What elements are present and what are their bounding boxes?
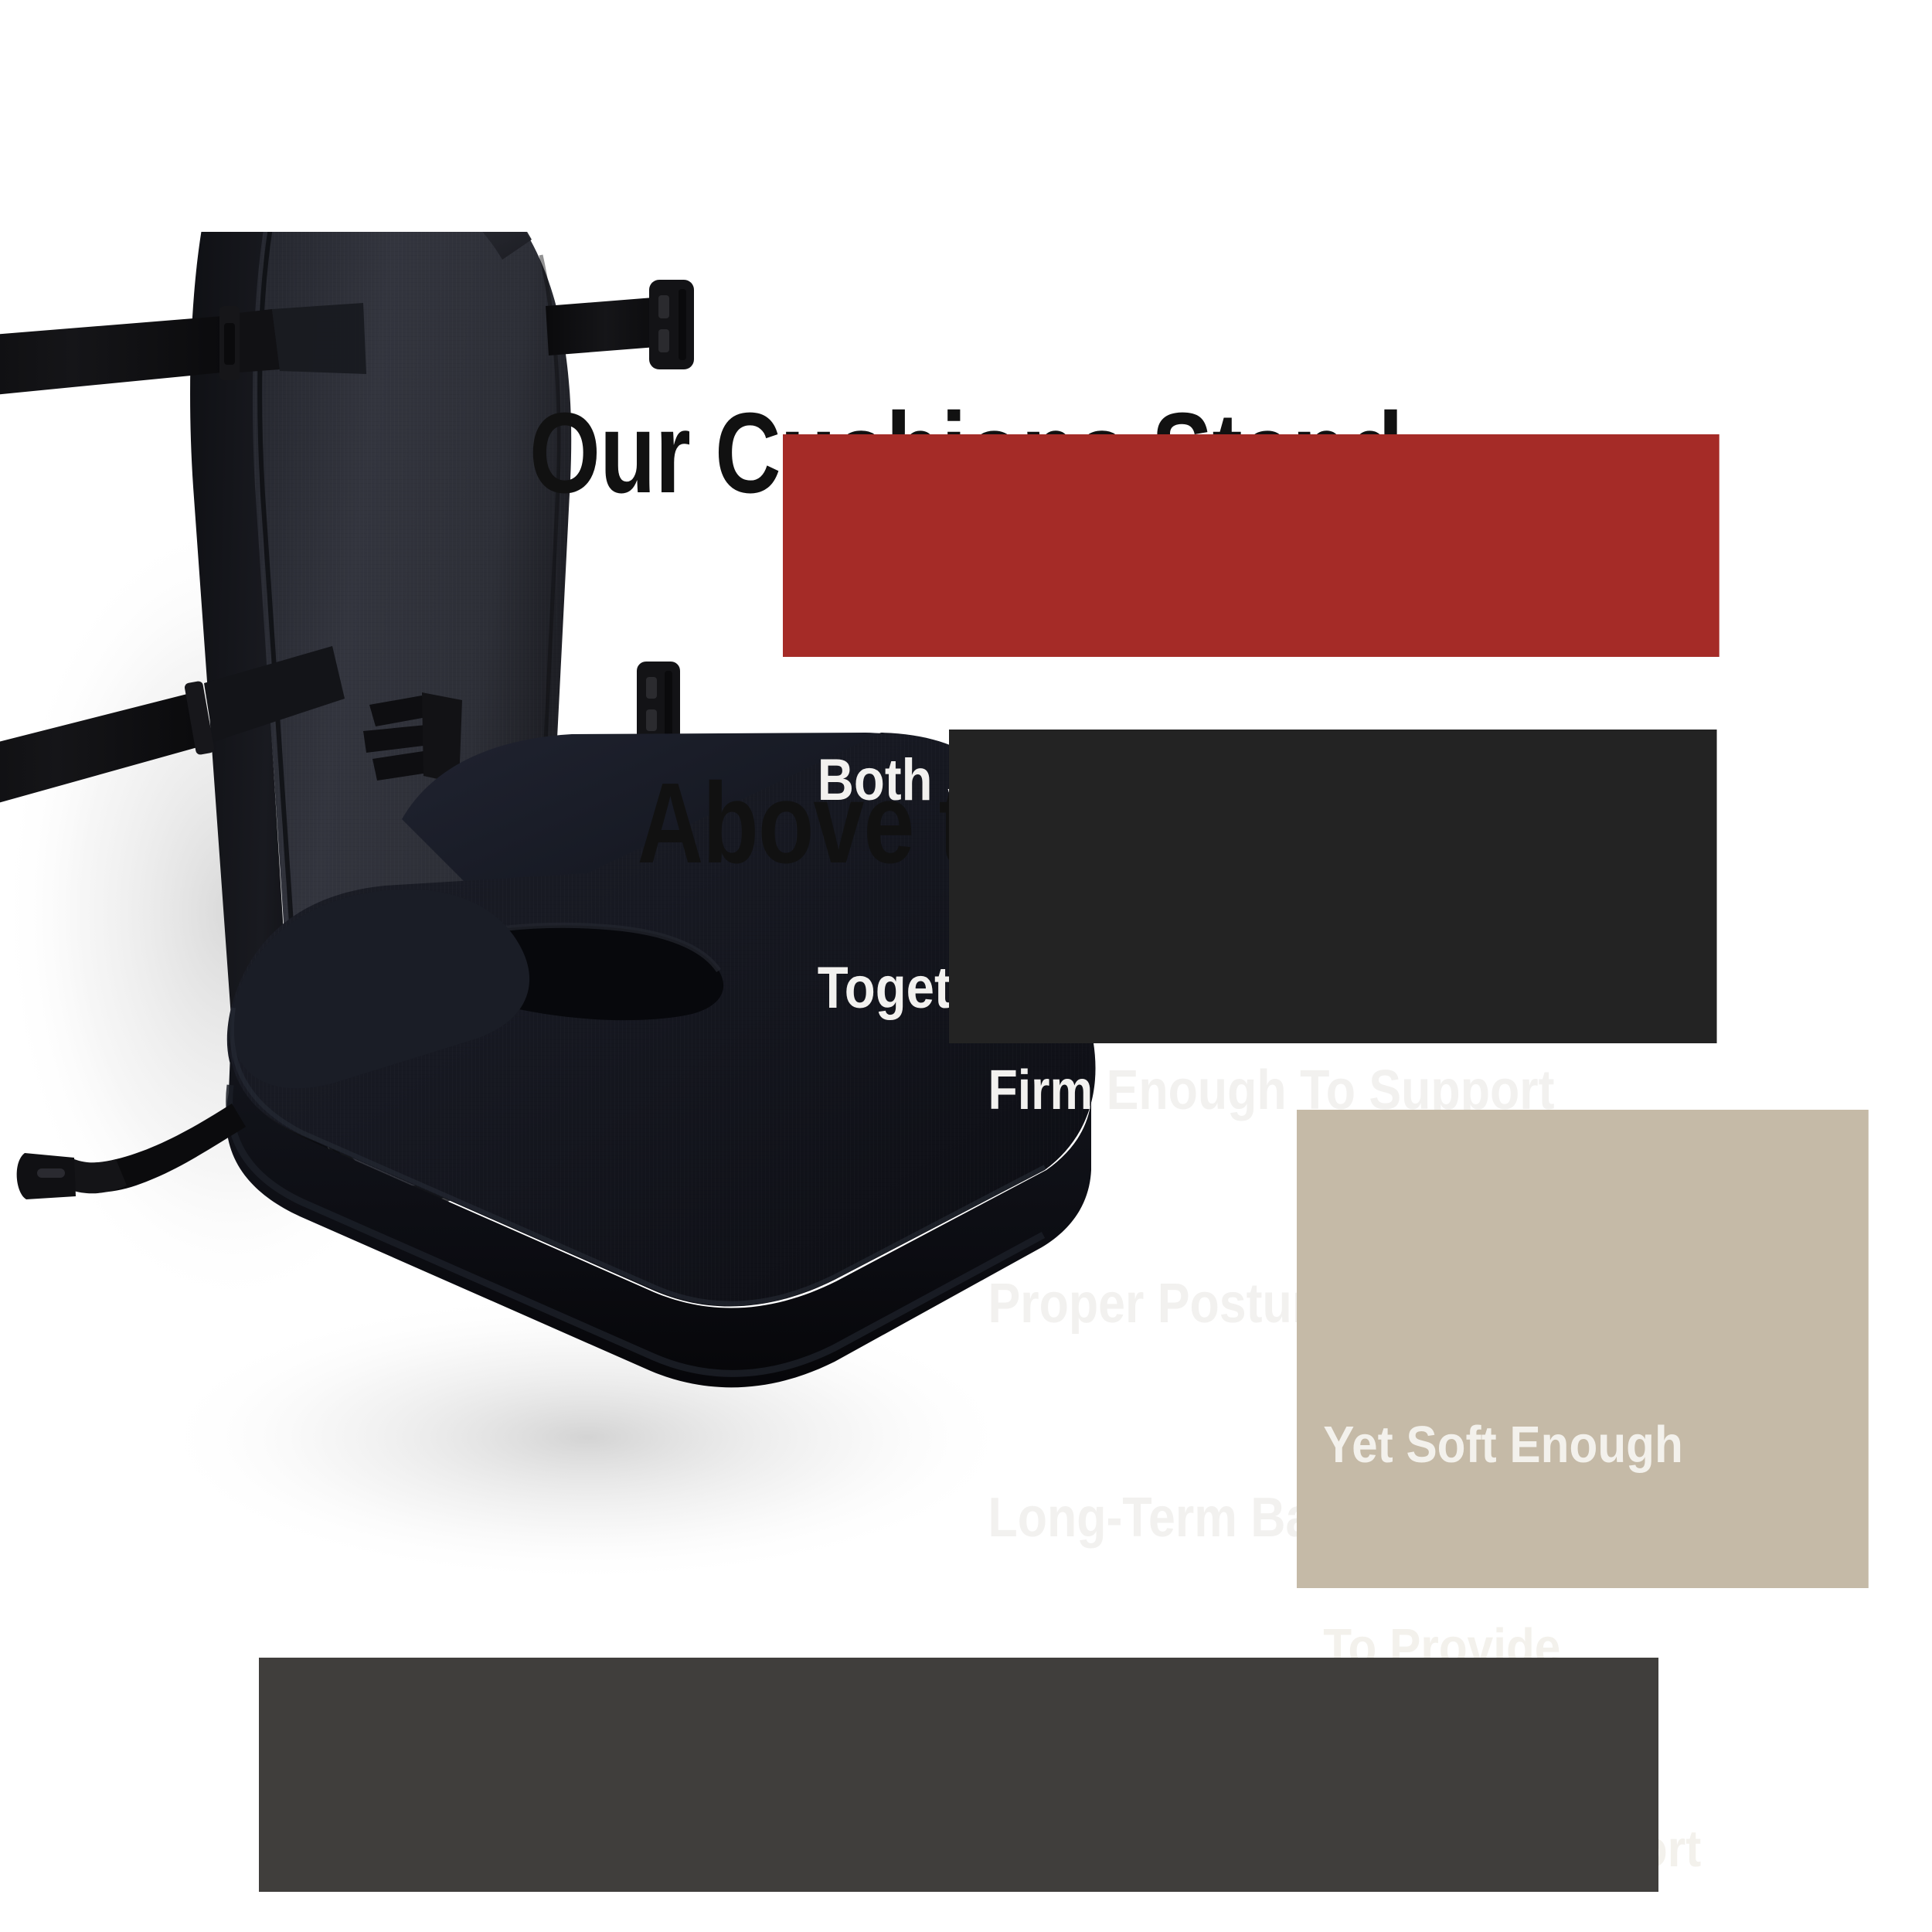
callout-tan-line-1: Yet Soft Enough bbox=[1323, 1411, 1932, 1478]
seat-strap-buckle bbox=[17, 1153, 76, 1199]
marketing-graphic-canvas: Our Cushions Stand Above the Rest Both S… bbox=[0, 0, 1932, 1932]
callout-banner-dark: Firm Enough To Support Proper Posture An… bbox=[949, 730, 1717, 1043]
callout-banner-bottom: Tapered Design Promotes Better Leg Circu… bbox=[259, 1658, 1658, 1892]
callout-banner-tan: Yet Soft Enough To Provide Ultimate Comf… bbox=[1297, 1110, 1869, 1588]
callout-banner-red: Both Seat And Lumbar Cushions Together D… bbox=[783, 434, 1719, 657]
